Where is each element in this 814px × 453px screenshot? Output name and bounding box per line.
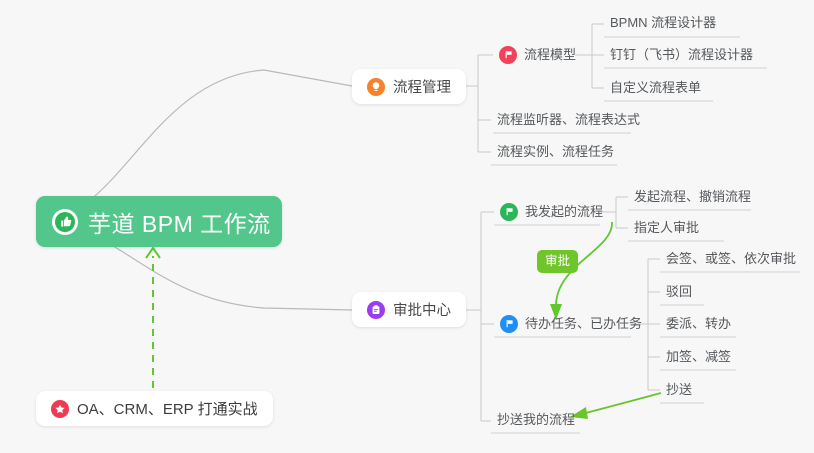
leaf-dingtalk-designer[interactable]: 钉钉（飞书）流程设计器 bbox=[604, 45, 759, 67]
callout-arrow bbox=[146, 248, 160, 388]
thumbs-up-icon bbox=[52, 209, 78, 235]
node-label: 驳回 bbox=[666, 285, 692, 298]
node-label: 指定人审批 bbox=[634, 221, 699, 234]
flag-icon bbox=[500, 203, 518, 221]
branch-label: 审批中心 bbox=[393, 299, 451, 320]
lightbulb-icon bbox=[367, 78, 385, 96]
leaf-cc-to-me[interactable]: 抄送我的流程 bbox=[491, 410, 581, 432]
node-label: 钉钉（飞书）流程设计器 bbox=[610, 48, 753, 61]
leaf-process-listener[interactable]: 流程监听器、流程表达式 bbox=[491, 110, 646, 132]
node-label: 抄送我的流程 bbox=[497, 413, 575, 426]
node-label: 加签、减签 bbox=[666, 350, 731, 363]
node-label: 自定义流程表单 bbox=[610, 81, 701, 94]
leaf-custom-form[interactable]: 自定义流程表单 bbox=[604, 78, 707, 100]
leaf-add-remove-sign[interactable]: 加签、减签 bbox=[660, 347, 737, 369]
node-process-model[interactable]: 流程模型 bbox=[493, 45, 582, 67]
node-todo-done-tasks[interactable]: 待办任务、已办任务 bbox=[494, 314, 648, 336]
leaf-start-cancel-process[interactable]: 发起流程、撤销流程 bbox=[628, 187, 757, 209]
node-label: 发起流程、撤销流程 bbox=[634, 190, 751, 203]
star-icon bbox=[51, 400, 69, 418]
branch-node-process-management[interactable]: 流程管理 bbox=[352, 69, 466, 104]
leaf-countersign[interactable]: 会签、或签、依次审批 bbox=[660, 249, 802, 271]
mindmap-canvas: 芋道 BPM 工作流 流程管理 流程模型 BPMN 流程设计器 钉钉（飞书）流程… bbox=[0, 0, 814, 453]
leaf-process-instance[interactable]: 流程实例、流程任务 bbox=[491, 142, 620, 164]
branch-node-approval-center[interactable]: 审批中心 bbox=[352, 292, 466, 327]
node-label: BPMN 流程设计器 bbox=[610, 16, 716, 29]
node-label: 流程模型 bbox=[524, 48, 576, 61]
node-label: 我发起的流程 bbox=[525, 205, 603, 218]
leaf-assigned-approval[interactable]: 指定人审批 bbox=[628, 218, 705, 240]
root-node[interactable]: 芋道 BPM 工作流 bbox=[36, 196, 282, 247]
cc-flow-arrow bbox=[570, 393, 661, 419]
node-label: 流程监听器、流程表达式 bbox=[497, 113, 640, 126]
clipboard-icon bbox=[367, 301, 385, 319]
approval-badge: 审批 bbox=[537, 250, 578, 273]
leaf-bpmn-designer[interactable]: BPMN 流程设计器 bbox=[604, 13, 722, 35]
leaf-delegate-transfer[interactable]: 委派、转办 bbox=[660, 314, 737, 336]
node-label: 流程实例、流程任务 bbox=[497, 145, 614, 158]
callout-label: OA、CRM、ERP 打通实战 bbox=[77, 398, 258, 419]
callout-node-integration[interactable]: OA、CRM、ERP 打通实战 bbox=[36, 391, 273, 426]
node-label: 委派、转办 bbox=[666, 317, 731, 330]
flag-icon bbox=[500, 315, 518, 333]
node-label: 抄送 bbox=[666, 383, 692, 396]
leaf-cc[interactable]: 抄送 bbox=[660, 380, 698, 402]
node-label: 待办任务、已办任务 bbox=[525, 317, 642, 330]
branch-label: 流程管理 bbox=[393, 76, 451, 97]
node-label: 会签、或签、依次审批 bbox=[666, 252, 796, 265]
leaf-reject[interactable]: 驳回 bbox=[660, 282, 698, 304]
root-label: 芋道 BPM 工作流 bbox=[88, 205, 271, 239]
node-my-started-processes[interactable]: 我发起的流程 bbox=[494, 202, 609, 224]
flag-icon bbox=[499, 46, 517, 64]
